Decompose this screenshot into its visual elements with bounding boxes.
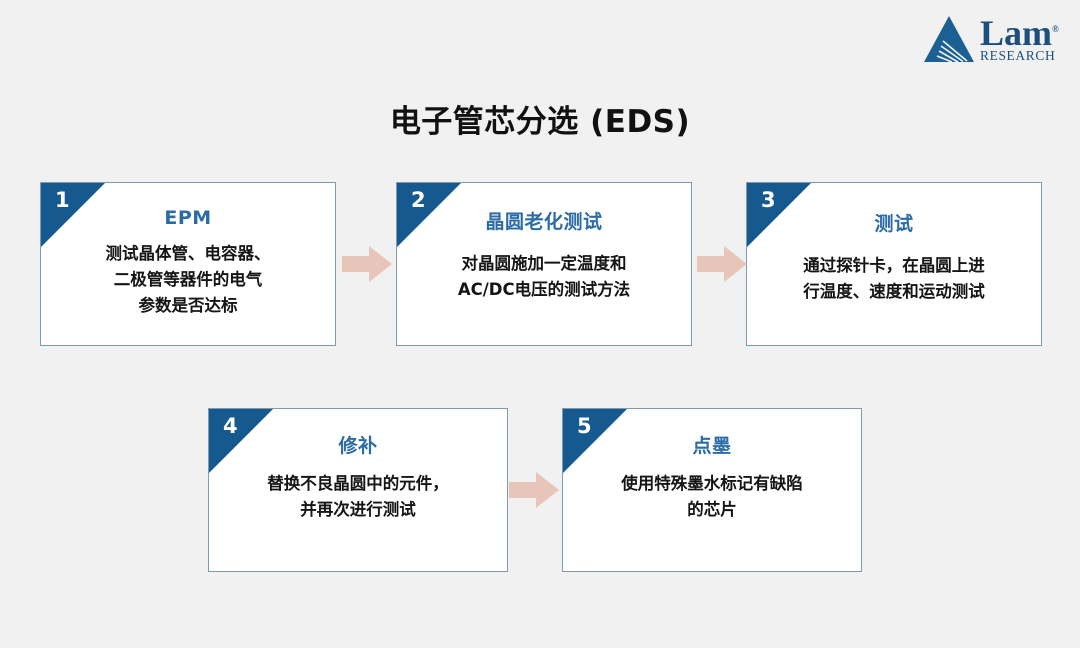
card-title: 测试 [747, 209, 1041, 236]
process-step-card-1[interactable]: 1 EPM 测试晶体管、电容器、 二极管等器件的电气 参数是否达标 [40, 182, 336, 346]
process-step-card-3[interactable]: 3 测试 通过探针卡，在晶圆上进 行温度、速度和运动测试 [746, 182, 1042, 346]
card-title: 点墨 [563, 431, 861, 458]
registered-mark-icon: ® [1052, 24, 1059, 34]
card-body-text: 测试晶体管、电容器、 二极管等器件的电气 参数是否达标 [41, 241, 335, 319]
card-body-text: 使用特殊墨水标记有缺陷 的芯片 [563, 471, 861, 523]
page-title: 电子管芯分选 (EDS) [0, 96, 1080, 141]
lam-triangle-icon [922, 14, 976, 64]
card-body-text: 替换不良晶圆中的元件， 并再次进行测试 [209, 471, 507, 523]
arrow-right-icon [697, 245, 747, 283]
logo-lam-text: Lam [980, 13, 1052, 53]
card-title: 晶圆老化测试 [397, 207, 691, 234]
card-body-text: 通过探针卡，在晶圆上进 行温度、速度和运动测试 [747, 253, 1041, 305]
process-step-card-4[interactable]: 4 修补 替换不良晶圆中的元件， 并再次进行测试 [208, 408, 508, 572]
arrow-right-icon [509, 471, 559, 509]
card-title: 修补 [209, 431, 507, 458]
card-body-text: 对晶圆施加一定温度和 AC/DC电压的测试方法 [397, 251, 691, 303]
lam-research-logo: Lam® RESEARCH [920, 10, 1066, 68]
process-step-card-5[interactable]: 5 点墨 使用特殊墨水标记有缺陷 的芯片 [562, 408, 862, 572]
card-title: EPM [41, 207, 335, 229]
lam-wordmark: Lam® RESEARCH [980, 10, 1066, 68]
arrow-right-icon [342, 245, 392, 283]
process-step-card-2[interactable]: 2 晶圆老化测试 对晶圆施加一定温度和 AC/DC电压的测试方法 [396, 182, 692, 346]
